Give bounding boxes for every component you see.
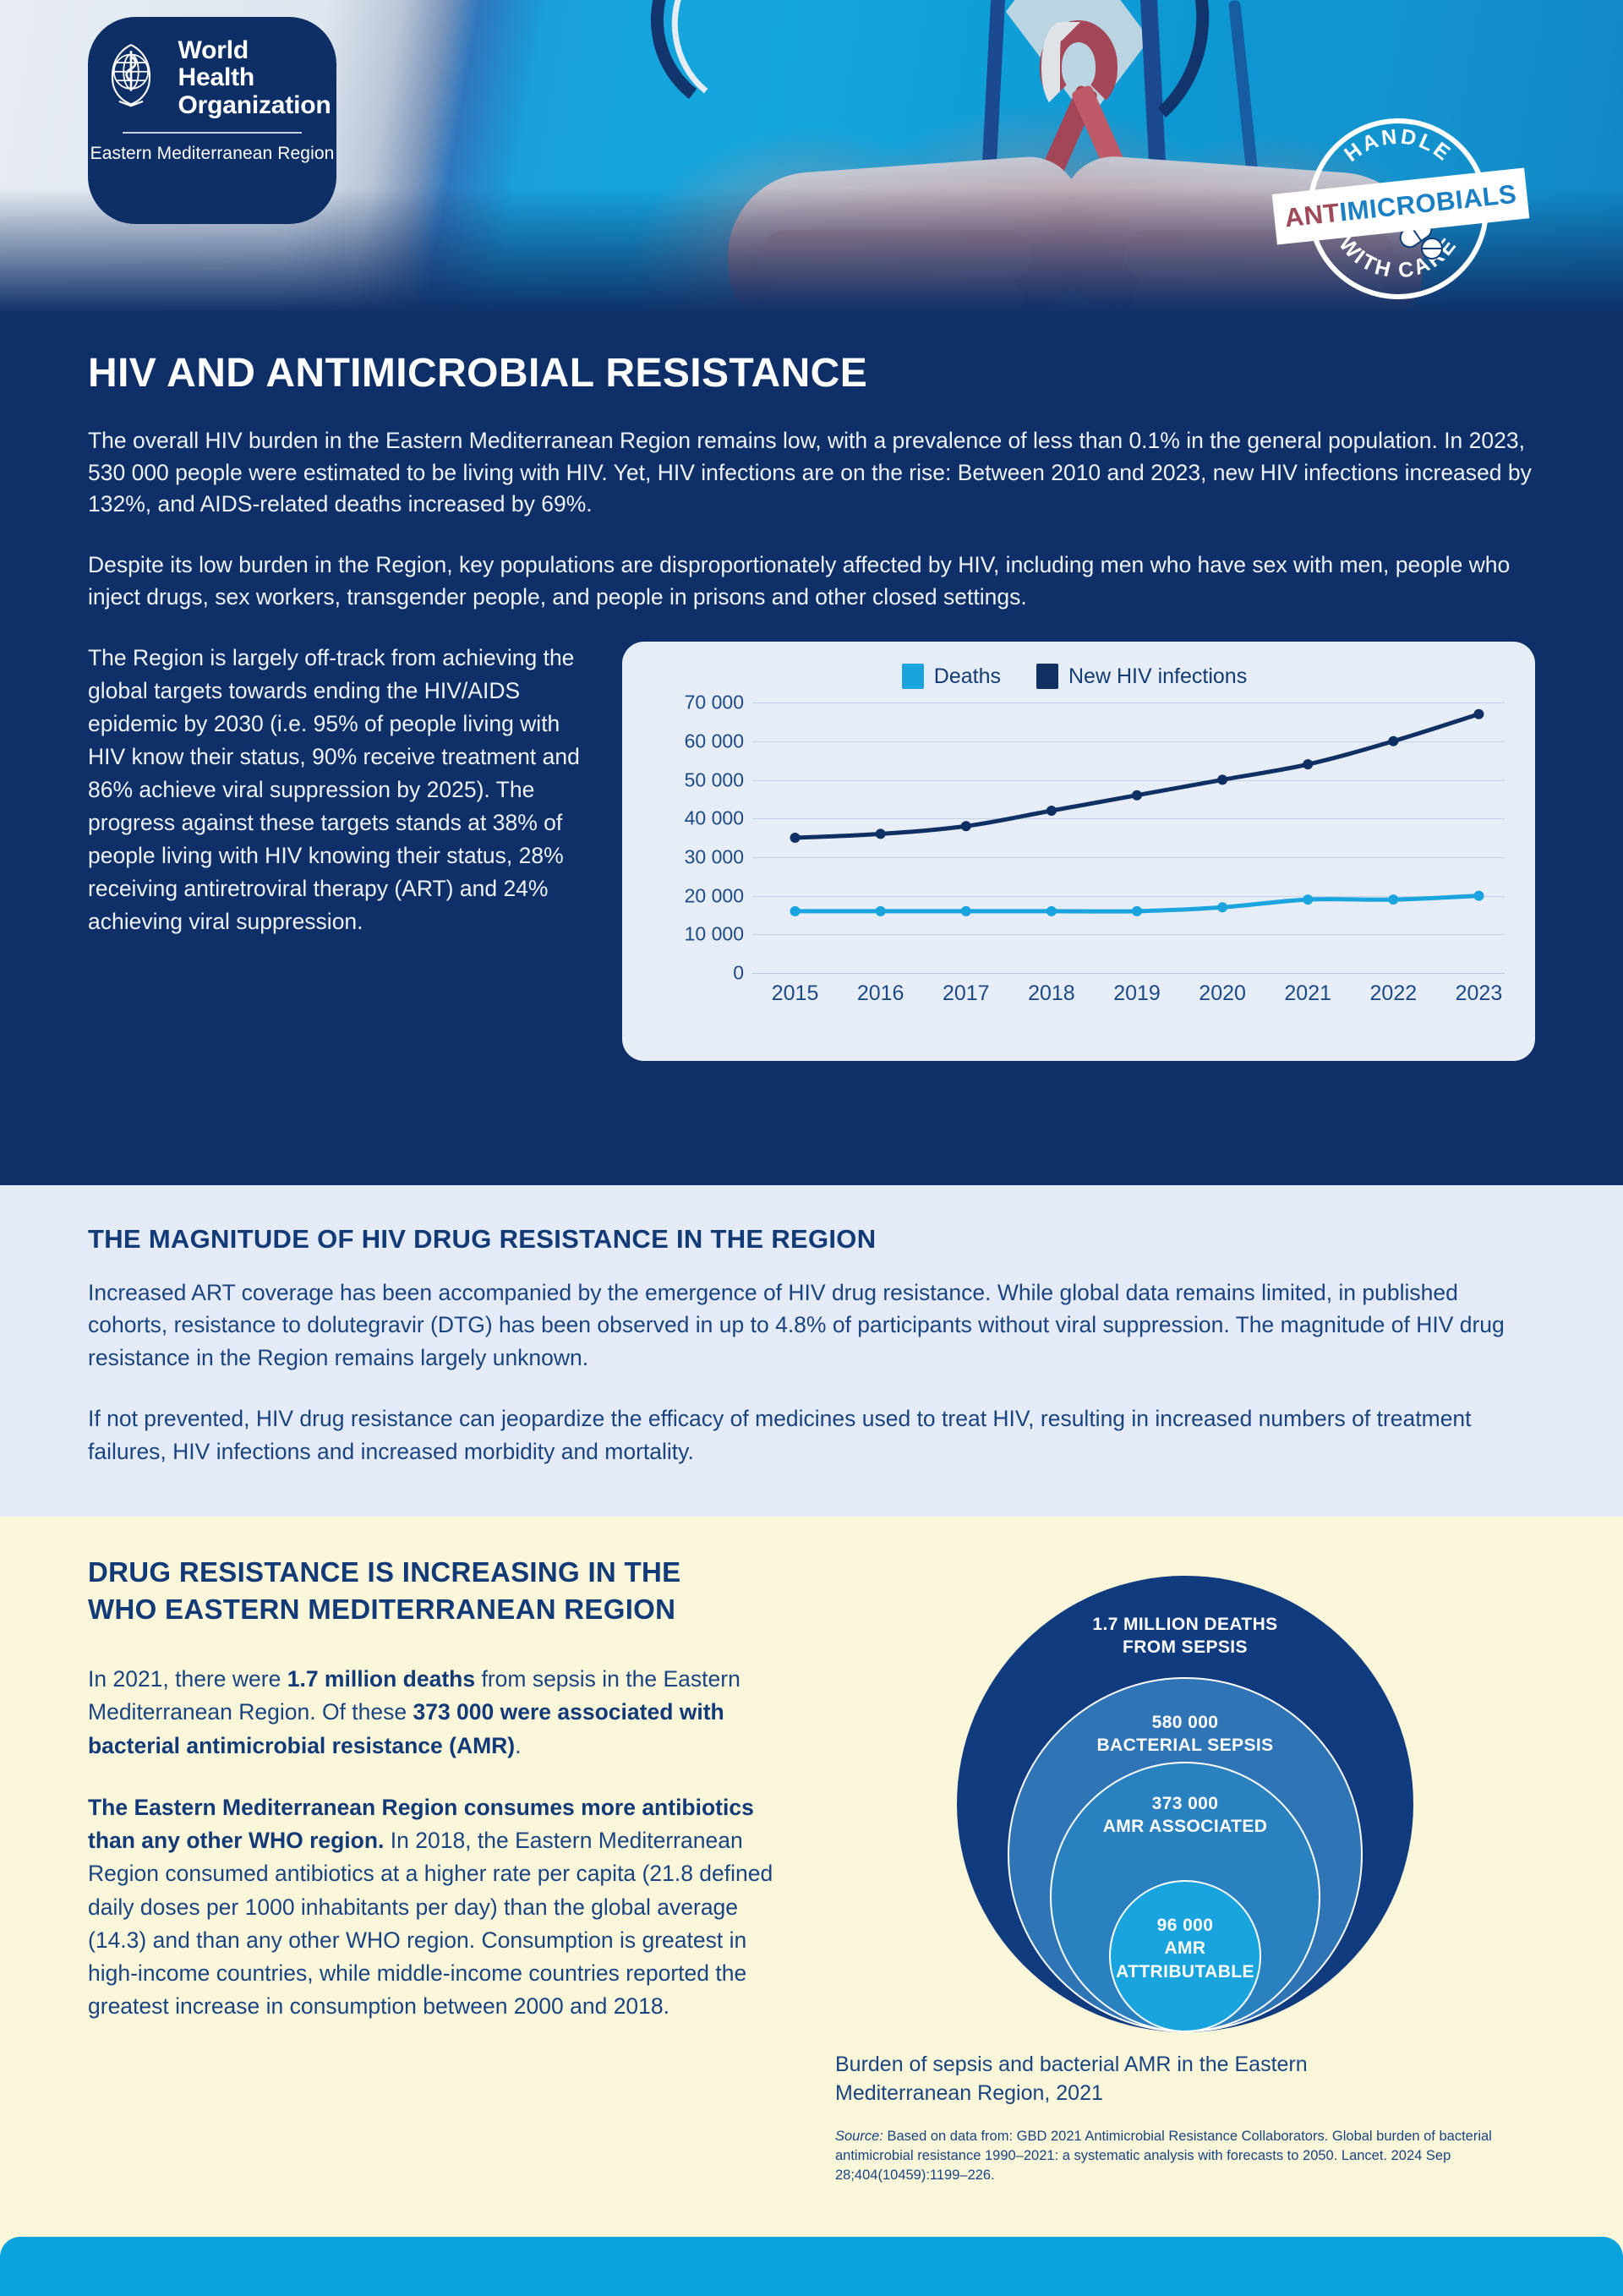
chart-x-tick: 2018 — [1028, 981, 1075, 1006]
hiv-targets-column: The Region is largely off-track from ach… — [88, 642, 595, 938]
chart-data-point — [1388, 736, 1398, 746]
circle-4-line3: ATTRIBUTABLE — [1116, 1962, 1254, 1982]
dr-p2-rest: In 2018, the Eastern Mediterranean Regio… — [88, 1828, 773, 2019]
chart-x-axis: 201520162017201820192020202120222023 — [752, 981, 1505, 1015]
chart-x-tick: 2022 — [1370, 981, 1418, 1006]
figure-source-text: Based on data from: GBD 2021 Antimicrobi… — [835, 2129, 1492, 2184]
venn-column: 1.7 MILLION DEATHS FROM SEPSIS 580 000 B… — [835, 1554, 1535, 2186]
circle-4-line2: AMR — [1164, 1938, 1205, 1958]
chart-y-tick: 70 000 — [685, 692, 744, 714]
chart-gridlines — [752, 702, 1505, 973]
chart-data-point — [1473, 709, 1484, 719]
legend-label-deaths: Deaths — [934, 664, 1001, 689]
chart-line-new-hiv-infections — [795, 714, 1479, 838]
figure-source: Source: Based on data from: GBD 2021 Ant… — [835, 2127, 1511, 2186]
legend-item-new-infections: New HIV infections — [1036, 664, 1247, 689]
chart-data-point — [1132, 906, 1142, 916]
chart-data-point — [1217, 902, 1227, 912]
legend-item-deaths: Deaths — [902, 664, 1001, 689]
drug-resistance-paragraph-2: The Eastern Mediterranean Region consume… — [88, 1791, 798, 2024]
circle-1-line2: FROM SEPSIS — [1123, 1637, 1248, 1657]
page-title: HIV AND ANTIMICROBIAL RESISTANCE — [88, 350, 1535, 396]
drug-resistance-heading-line2: WHO EASTERN MEDITERRANEAN REGION — [88, 1594, 675, 1625]
chart-data-point — [1303, 894, 1313, 905]
chart-data-point — [1046, 906, 1057, 916]
chart-data-point — [1303, 759, 1313, 769]
dr-p1-e: . — [515, 1733, 521, 1758]
section-magnitude-of-hiv-drug-resistance: THE MAGNITUDE OF HIV DRUG RESISTANCE IN … — [0, 1185, 1623, 1517]
chart-data-point — [1046, 806, 1057, 816]
chart-data-point — [876, 829, 886, 839]
magnitude-paragraph-2: If not prevented, HIV drug resistance ca… — [88, 1402, 1535, 1468]
circle-3-line2: AMR ASSOCIATED — [1103, 1817, 1268, 1836]
circle-2-line2: BACTERIAL SEPSIS — [1096, 1736, 1273, 1755]
chart-y-tick: 60 000 — [685, 730, 744, 752]
figure-source-label: Source: — [835, 2129, 883, 2144]
chart-gridline — [752, 973, 1505, 974]
chart-x-tick: 2015 — [772, 981, 819, 1006]
chart-series — [752, 702, 1522, 973]
section-drug-resistance-increasing: DRUG RESISTANCE IS INCREASING IN THE WHO… — [0, 1517, 1623, 2288]
who-logo-line2: Organization — [178, 91, 331, 119]
circle-2-line1: 580 000 — [1152, 1713, 1219, 1732]
circle-amr-attributable: 96 000 AMR ATTRIBUTABLE — [1109, 1880, 1261, 2032]
chart-x-tick: 2016 — [857, 981, 904, 1006]
drug-resistance-heading: DRUG RESISTANCE IS INCREASING IN THE WHO… — [88, 1554, 798, 1627]
drug-resistance-text-column: DRUG RESISTANCE IS INCREASING IN THE WHO… — [88, 1554, 798, 2023]
who-logo-region: Eastern Mediterranean Region — [90, 144, 335, 164]
chart-data-point — [1217, 775, 1227, 785]
figure-caption: Burden of sepsis and bacterial AMR in th… — [835, 2051, 1427, 2108]
magnitude-heading: THE MAGNITUDE OF HIV DRUG RESISTANCE IN … — [88, 1224, 1535, 1255]
logo-divider — [123, 132, 302, 134]
dr-p1-a: In 2021, there were — [88, 1666, 287, 1692]
hiv-paragraph-3: The Region is largely off-track from ach… — [88, 642, 595, 938]
hiv-paragraph-2: Despite its low burden in the Region, ke… — [88, 549, 1535, 613]
chart-y-tick: 20 000 — [685, 884, 744, 907]
chart-data-point — [961, 906, 971, 916]
chart-x-tick: 2021 — [1284, 981, 1331, 1006]
chart-plot-area: 010 00020 00030 00040 00050 00060 00070 … — [644, 702, 1505, 1024]
drug-resistance-paragraph-1: In 2021, there were 1.7 million deaths f… — [88, 1663, 798, 1763]
magnitude-paragraph-1: Increased ART coverage has been accompan… — [88, 1276, 1535, 1374]
chart-x-tick: 2019 — [1113, 981, 1161, 1006]
chart-y-tick: 30 000 — [685, 845, 744, 868]
legend-swatch-deaths — [902, 664, 924, 689]
chart-x-tick: 2020 — [1199, 981, 1246, 1006]
circle-1-line1: 1.7 MILLION DEATHS — [1092, 1615, 1277, 1634]
section-hiv-and-amr: HIV AND ANTIMICROBIAL RESISTANCE The ove… — [0, 314, 1623, 1185]
chart-data-point — [790, 906, 801, 916]
stamp-band-prefix: ANT — [1283, 198, 1342, 234]
chart-data-point — [1132, 790, 1142, 801]
circle-4-line1: 96 000 — [1157, 1916, 1214, 1935]
legend-label-new-infections: New HIV infections — [1068, 664, 1247, 689]
drug-resistance-heading-line1: DRUG RESISTANCE IS INCREASING IN THE — [88, 1556, 680, 1588]
stethoscope-highlight — [661, 0, 833, 119]
chart-y-tick: 10 000 — [685, 923, 744, 946]
who-emblem-icon — [94, 39, 168, 118]
chart-data-point — [961, 821, 971, 831]
circle-3-line1: 373 000 — [1152, 1794, 1219, 1813]
dr-p1-bold-deaths: 1.7 million deaths — [287, 1666, 475, 1692]
chart-y-tick: 40 000 — [685, 807, 744, 830]
hiv-paragraph-1: The overall HIV burden in the Eastern Me… — [88, 425, 1535, 521]
chart-y-tick: 50 000 — [685, 768, 744, 791]
handle-antimicrobials-with-care-stamp: HANDLE WITH CARE ANTIMICROBIALS — [1278, 108, 1523, 311]
footer-accent-bar — [0, 2237, 1623, 2296]
hiv-trend-chart: Deaths New HIV infections 010 00020 0003… — [622, 642, 1535, 1061]
who-logo: World Health Organization Eastern Medite… — [88, 17, 336, 224]
chart-data-point — [1388, 894, 1398, 905]
chart-data-point — [876, 906, 886, 916]
chart-legend: Deaths New HIV infections — [644, 664, 1505, 689]
nested-circles-diagram: 1.7 MILLION DEATHS FROM SEPSIS 580 000 B… — [881, 1559, 1489, 2032]
legend-swatch-new-infections — [1036, 664, 1058, 689]
chart-x-tick: 2023 — [1456, 981, 1503, 1006]
who-logo-line1: World Health — [178, 36, 255, 91]
hero-banner: World Health Organization Eastern Medite… — [0, 0, 1623, 314]
chart-data-point — [790, 833, 801, 843]
stamp-band-rest: IMICROBIALS — [1338, 179, 1518, 228]
chart-x-tick: 2017 — [943, 981, 990, 1006]
chart-y-tick: 0 — [733, 962, 744, 985]
chart-y-axis: 010 00020 00030 00040 00050 00060 00070 … — [644, 702, 744, 973]
chart-data-point — [1473, 891, 1484, 901]
